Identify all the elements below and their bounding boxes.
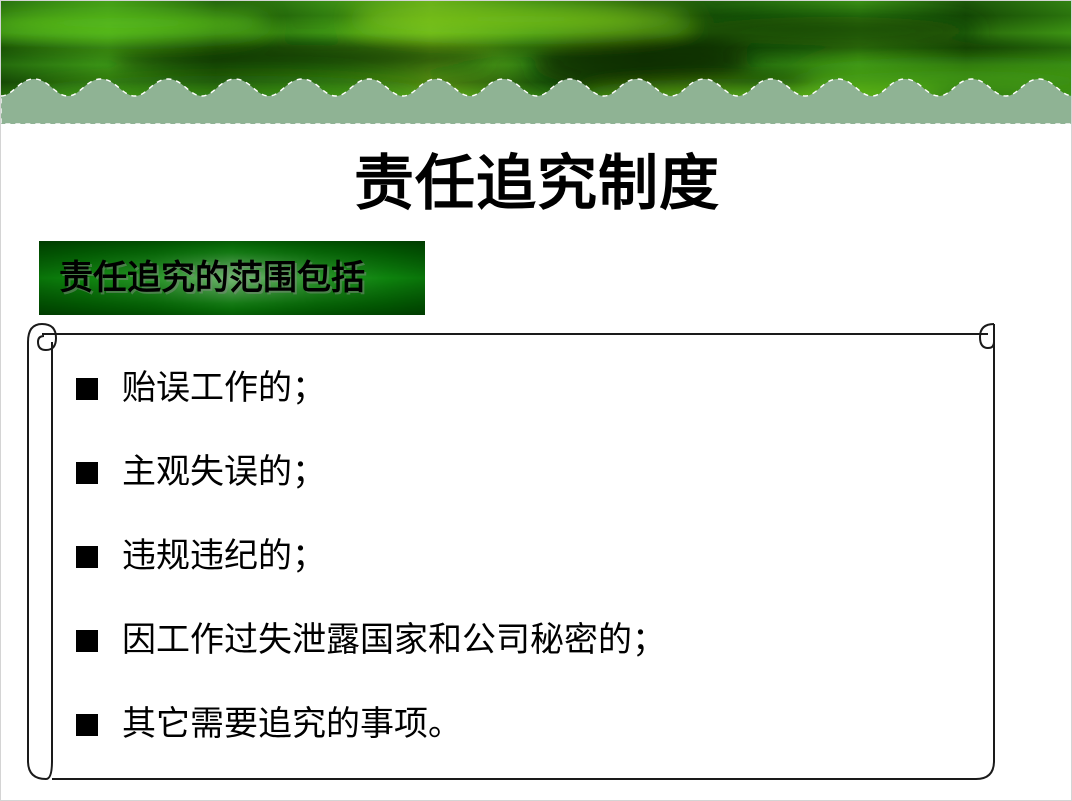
square-bullet-icon [76, 714, 98, 736]
content-frame: 贻误工作的； 主观失误的； 违规违纪的； 因工作过失泄露国家和公司秘密的； 其它… [26, 334, 996, 779]
header-banner-graphic [1, 1, 1072, 124]
list-item: 贻误工作的； [76, 362, 976, 446]
square-bullet-icon [76, 378, 98, 400]
square-bullet-icon [76, 462, 98, 484]
list-item-label: 主观失误的； [122, 446, 326, 498]
header-banner [1, 1, 1072, 124]
subtitle-plaque: 责任追究的范围包括 [39, 241, 425, 315]
list-item: 其它需要追究的事项。 [76, 698, 976, 782]
presentation-slide: 责任追究制度 责任追究的范围包括 贻误工作的； [0, 0, 1072, 801]
list-item: 主观失误的； [76, 446, 976, 530]
list-item-label: 其它需要追究的事项。 [122, 698, 462, 750]
list-item-label: 贻误工作的； [122, 362, 326, 414]
square-bullet-icon [76, 546, 98, 568]
bullet-list: 贻误工作的； 主观失误的； 违规违纪的； 因工作过失泄露国家和公司秘密的； 其它… [76, 362, 976, 782]
list-item: 违规违纪的； [76, 530, 976, 614]
list-item-label: 因工作过失泄露国家和公司秘密的； [122, 614, 666, 666]
list-item-label: 违规违纪的； [122, 530, 326, 582]
page-title: 责任追究制度 [1, 149, 1072, 219]
subtitle-plaque-label: 责任追究的范围包括 [59, 258, 365, 298]
square-bullet-icon [76, 630, 98, 652]
list-item: 因工作过失泄露国家和公司秘密的； [76, 614, 976, 698]
